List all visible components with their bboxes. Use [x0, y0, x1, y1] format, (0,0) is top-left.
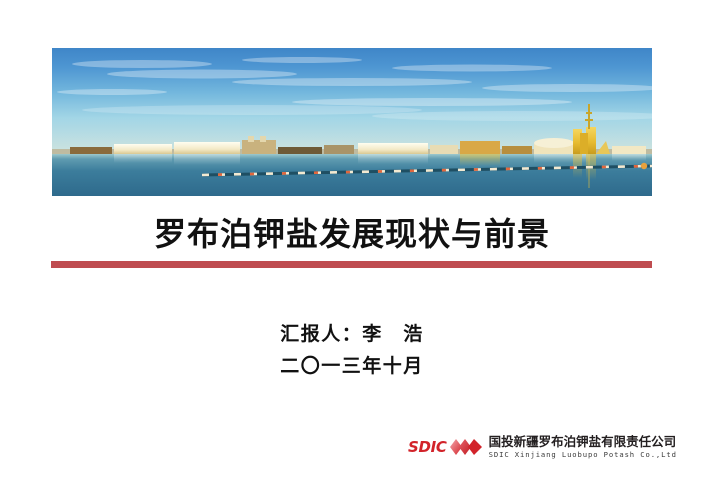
- slide-title: 罗布泊钾盐发展现状与前景: [52, 212, 652, 256]
- subtitle-block: 汇报人：李 浩 二〇一三年十月: [52, 318, 652, 382]
- company-name-cn: 国投新疆罗布泊钾盐有限责任公司: [489, 435, 677, 449]
- title-divider-rule: [51, 261, 652, 268]
- logo-mark: SDIC: [408, 438, 483, 456]
- date-line: 二〇一三年十月: [52, 350, 652, 382]
- title-slide-photo: [52, 48, 652, 196]
- logo-text-block: 国投新疆罗布泊钾盐有限责任公司 SDIC Xinjiang Luobupo Po…: [489, 435, 677, 460]
- plant-panorama-image: [52, 48, 652, 196]
- company-name-en: SDIC Xinjiang Luobupo Potash Co.,Ltd: [489, 449, 677, 460]
- sdic-diamond-icon: [449, 438, 483, 456]
- sdic-wordmark: SDIC: [408, 440, 447, 455]
- company-logo: SDIC 国投新疆罗布泊钾盐有限责任公司 SD: [408, 431, 677, 463]
- presenter-line: 汇报人：李 浩: [52, 318, 652, 350]
- presentation-slide: 罗布泊钾盐发展现状与前景 汇报人：李 浩 二〇一三年十月 SDIC: [0, 0, 702, 496]
